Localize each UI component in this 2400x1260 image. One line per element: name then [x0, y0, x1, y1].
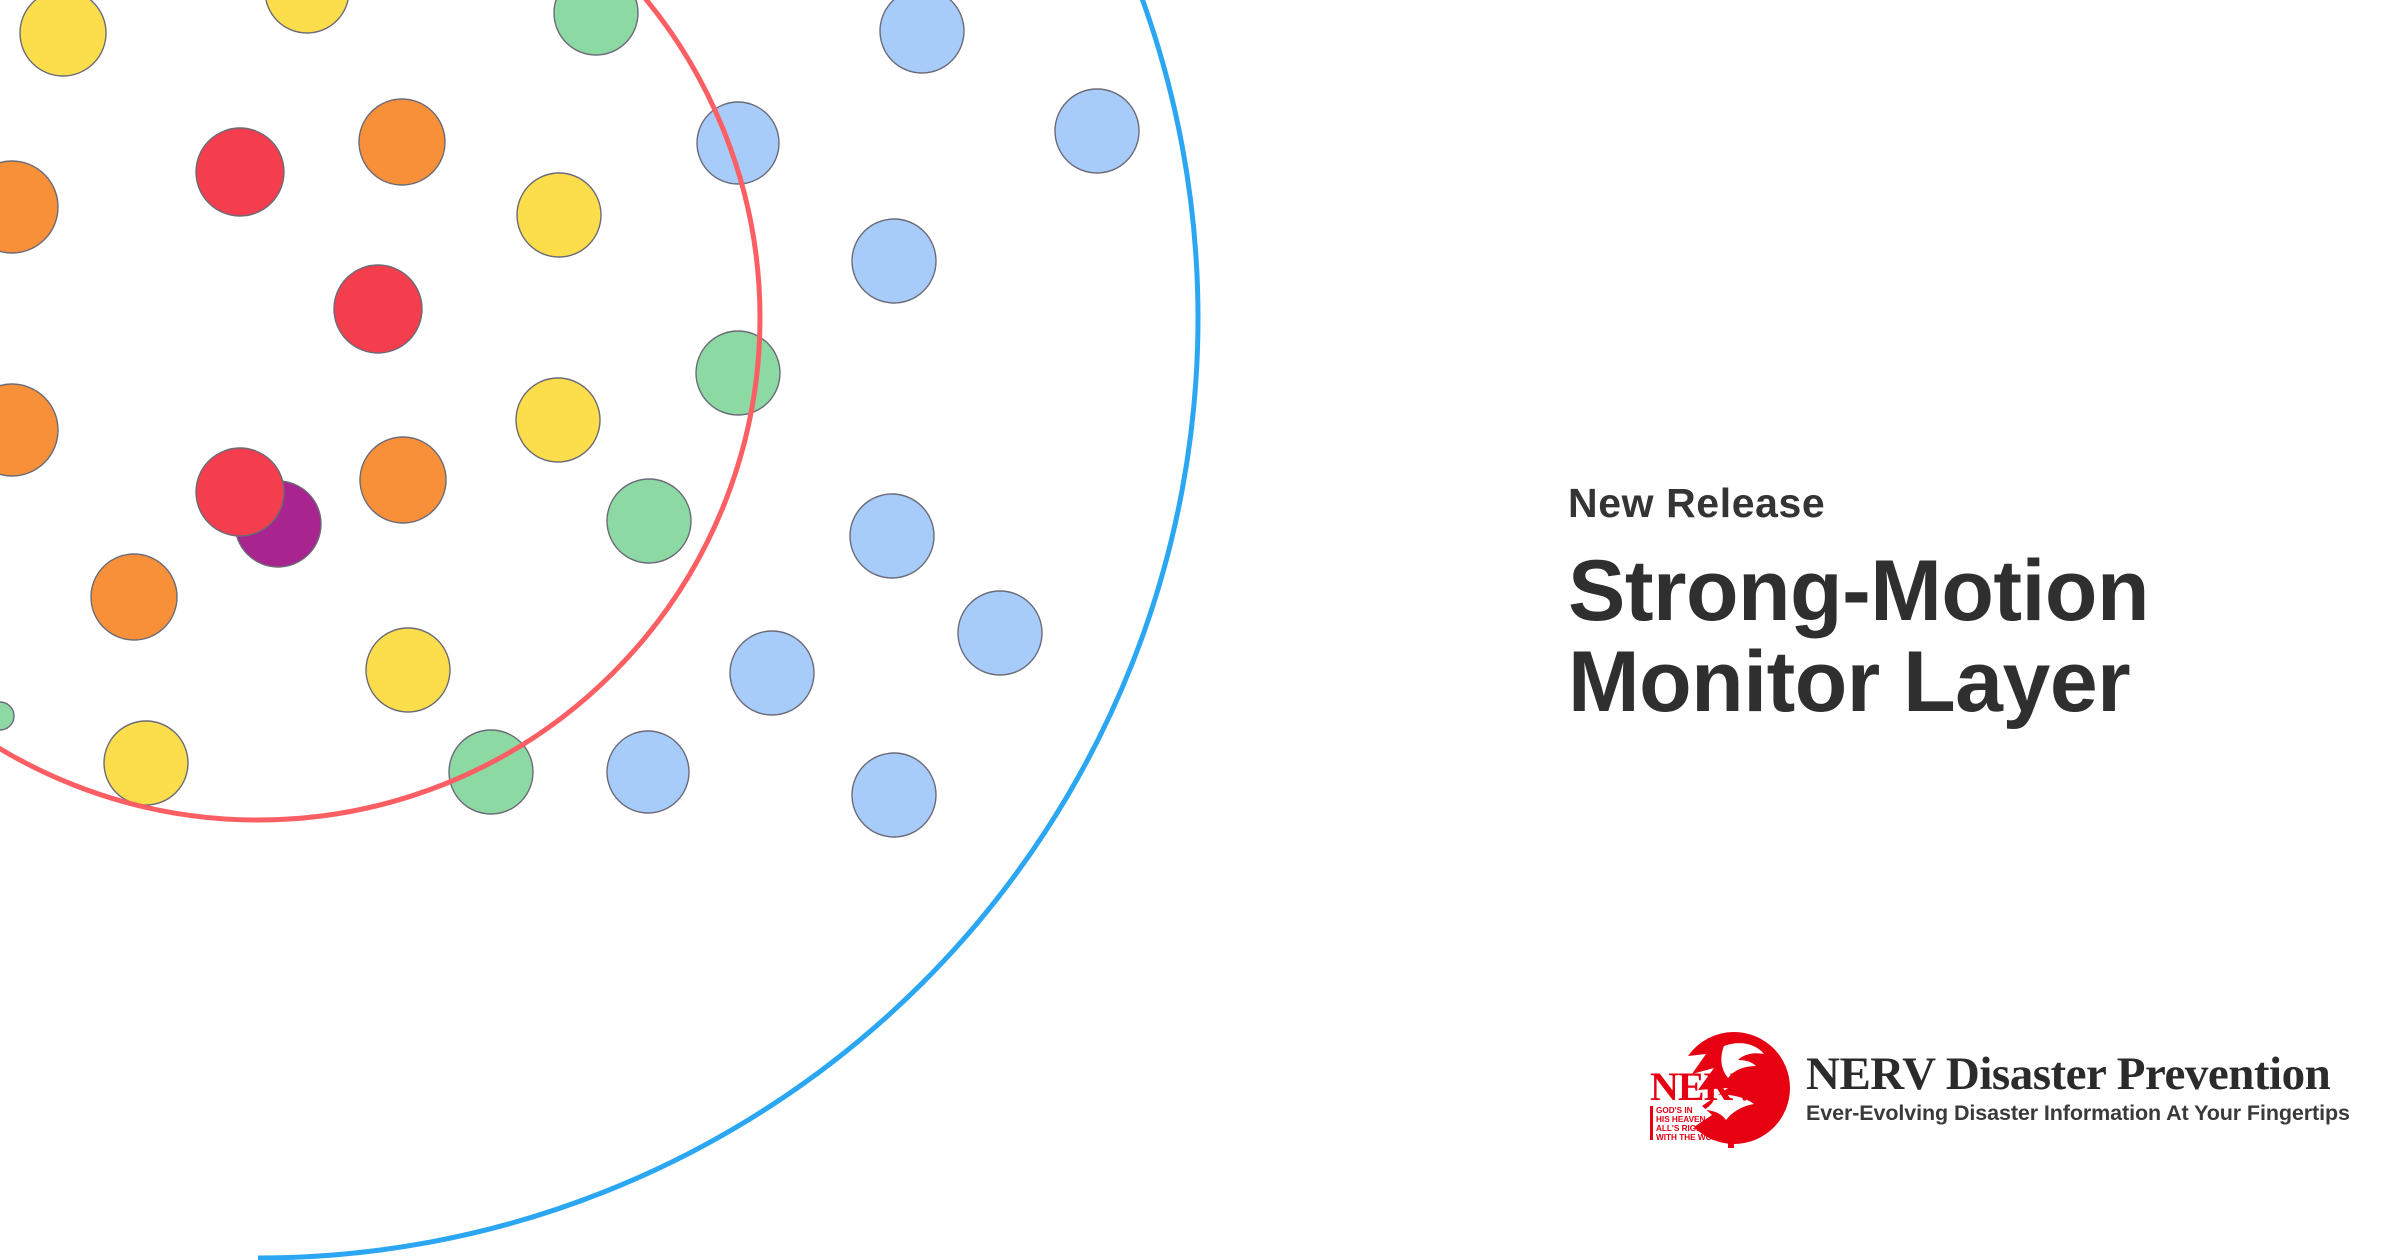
intensity-dot	[449, 730, 533, 814]
brand-name: NERV Disaster Prevention	[1806, 1051, 2350, 1097]
brand-lockup: NERV GOD'S IN HIS HEAVEN ALL'S RIGHT WIT…	[1648, 1028, 2350, 1148]
intensity-dot	[607, 731, 689, 813]
intensity-dot	[696, 331, 780, 415]
intensity-dot	[20, 0, 106, 76]
promo-copy: New Release Strong-Motion Monitor Layer	[1568, 483, 2358, 728]
intensity-dot	[517, 173, 601, 257]
intensity-dot	[554, 0, 638, 55]
intensity-dot	[196, 128, 284, 216]
intensity-dot	[196, 448, 284, 536]
promo-banner: New Release Strong-Motion Monitor Layer …	[0, 0, 2400, 1260]
intensity-dot	[265, 0, 349, 33]
page-title: Strong-Motion Monitor Layer	[1568, 546, 2358, 728]
headline-line-1: Strong-Motion	[1568, 546, 2358, 637]
intensity-dot	[516, 378, 600, 462]
intensity-dot	[852, 219, 936, 303]
intensity-dot	[730, 631, 814, 715]
intensity-dot	[607, 479, 691, 563]
headline-line-2: Monitor Layer	[1568, 637, 2358, 728]
intensity-dot	[852, 753, 936, 837]
emblem-motto-line-2: HIS HEAVEN	[1656, 1115, 1706, 1124]
intensity-dot	[91, 554, 177, 640]
emblem-motto-line-1: GOD'S IN	[1656, 1106, 1693, 1115]
eyebrow-label: New Release	[1568, 483, 2358, 524]
brand-tagline: Ever-Evolving Disaster Information At Yo…	[1806, 1102, 2350, 1126]
intensity-dot	[104, 721, 188, 805]
intensity-dot	[958, 591, 1042, 675]
intensity-dot	[880, 0, 964, 73]
intensity-dot	[0, 702, 14, 730]
nerv-fig-leaf-emblem-icon: NERV GOD'S IN HIS HEAVEN ALL'S RIGHT WIT…	[1648, 1028, 1796, 1148]
emblem-wordmark: NERV	[1650, 1064, 1759, 1109]
intensity-dot	[359, 99, 445, 185]
emblem-motto-line-3: ALL'S RIGHT	[1656, 1124, 1707, 1133]
emblem-motto-line-4: WITH THE WORLD	[1656, 1133, 1729, 1142]
intensity-dot	[334, 265, 422, 353]
intensity-dot	[850, 494, 934, 578]
intensity-dot	[360, 437, 446, 523]
intensity-dot	[0, 384, 58, 476]
intensity-dot	[1055, 89, 1139, 173]
intensity-dot	[0, 161, 58, 253]
intensity-dot	[366, 628, 450, 712]
brand-wordmark: NERV Disaster Prevention Ever-Evolving D…	[1806, 1051, 2350, 1126]
